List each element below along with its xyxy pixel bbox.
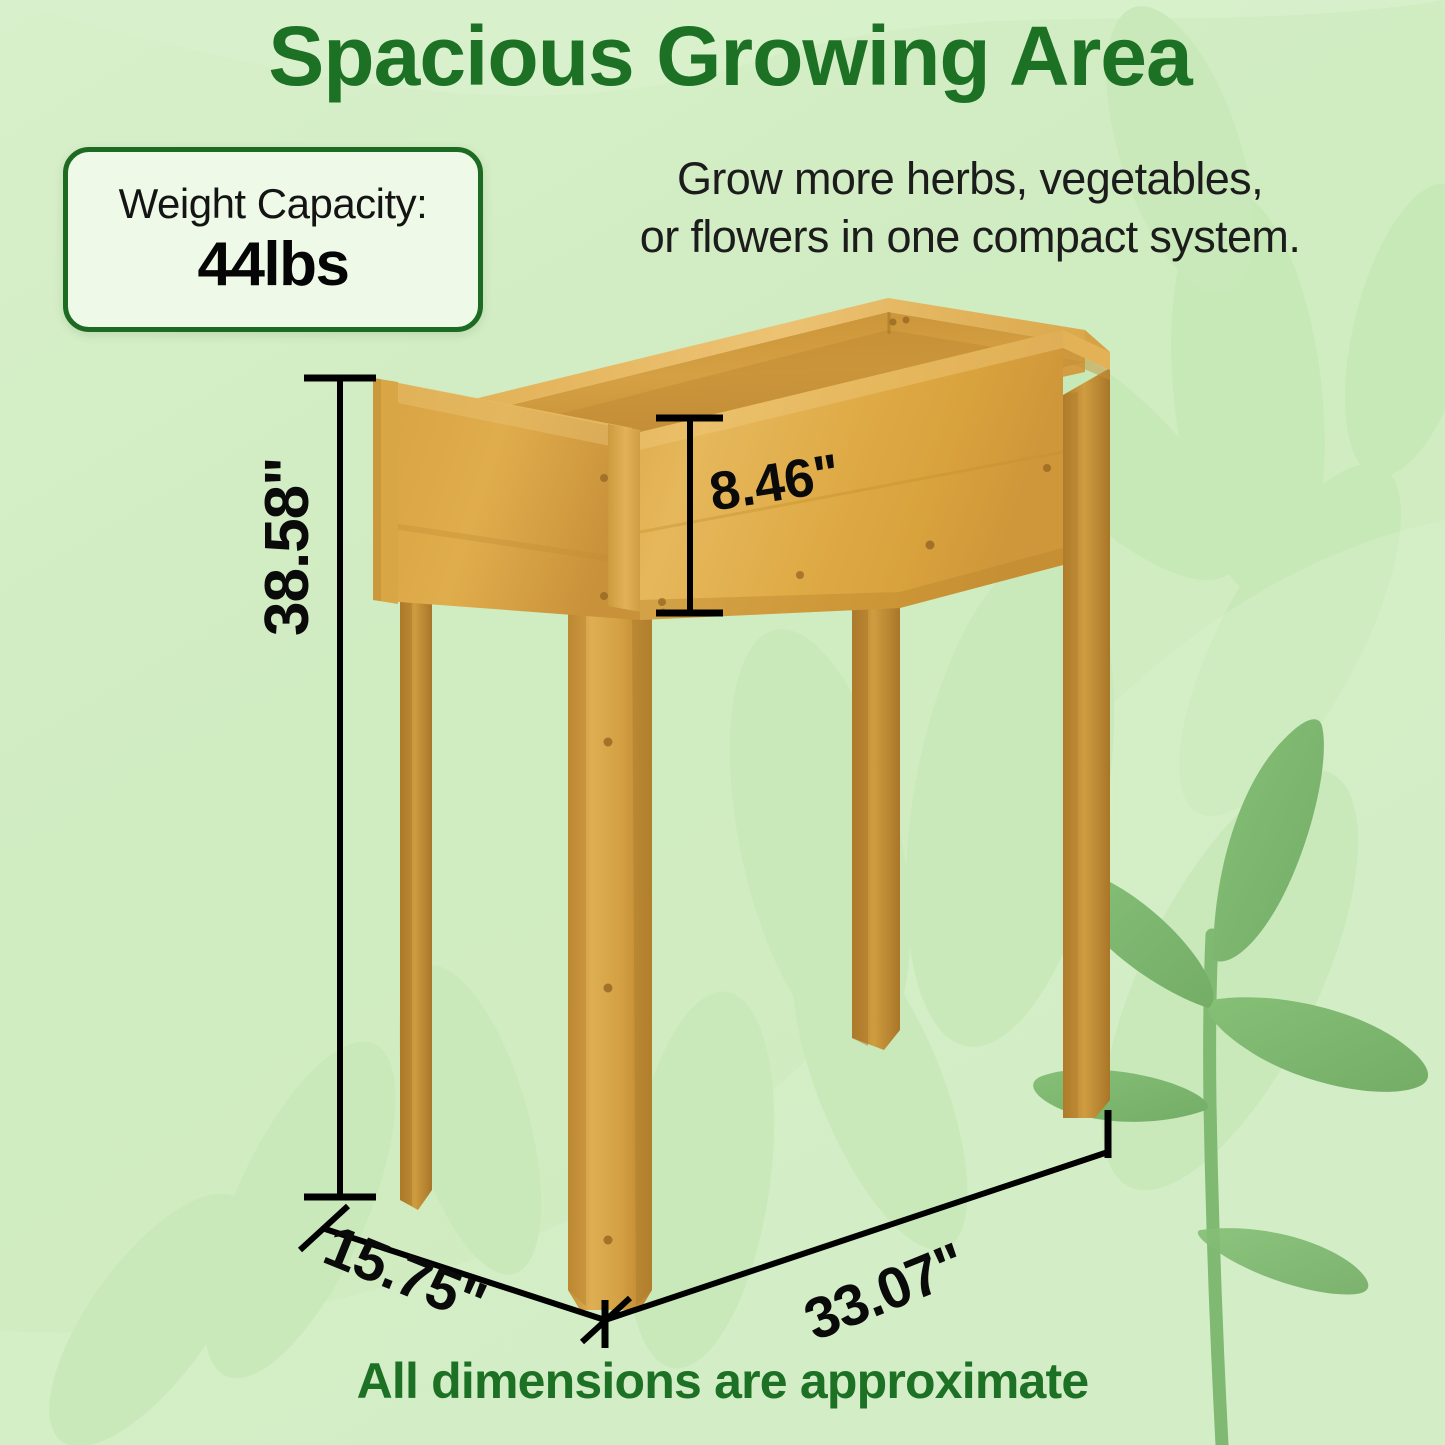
leg-rear-left (400, 586, 432, 1210)
infographic-canvas: Spacious Growing Area Weight Capacity: 4… (0, 0, 1445, 1445)
weight-capacity-badge: Weight Capacity: 44lbs (63, 147, 483, 332)
subtitle-line-2: or flowers in one compact system. (520, 208, 1420, 266)
leg-front-left (568, 596, 652, 1310)
leg-rear-right (1063, 368, 1110, 1118)
weight-capacity-value: 44lbs (197, 232, 348, 297)
footer-note: All dimensions are approximate (0, 1352, 1445, 1410)
subtitle: Grow more herbs, vegetables, or flowers … (520, 150, 1420, 265)
planter-corner-post-left (373, 378, 398, 604)
subtitle-line-1: Grow more herbs, vegetables, (520, 150, 1420, 208)
weight-capacity-label: Weight Capacity: (119, 182, 428, 226)
page-title: Spacious Growing Area (60, 14, 1400, 98)
leg-rear-center (852, 588, 900, 1050)
dimension-label-total-height: 38.58" (252, 457, 323, 636)
